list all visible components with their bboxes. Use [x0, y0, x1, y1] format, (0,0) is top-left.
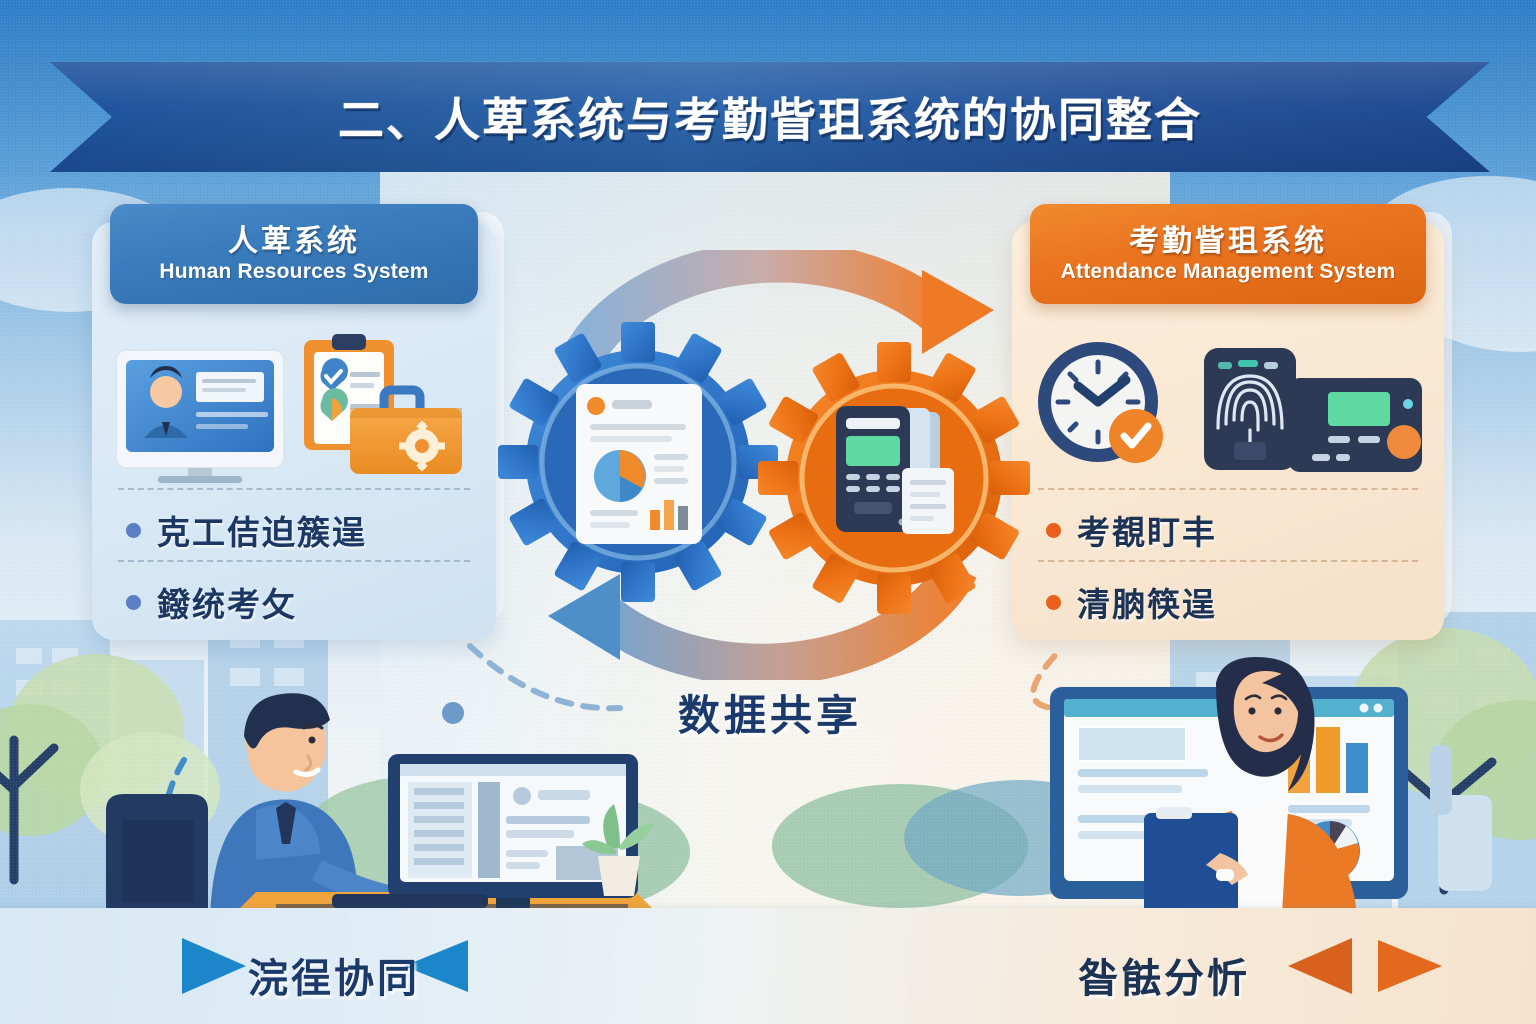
bidirectional-dashed-arrow — [0, 908, 1536, 1024]
arrow-head-right — [1378, 940, 1442, 992]
desktop-monitor-icon — [388, 754, 638, 917]
attendance-bullet-2: 清朒筷逞 — [1046, 578, 1217, 626]
arrow-head-left-outer — [182, 938, 246, 994]
bullet-dot-icon — [126, 595, 141, 610]
time-clock-terminal-icon — [836, 406, 954, 534]
attendance-system-title-cn: 考勤眥珇系统 — [1129, 225, 1327, 258]
office-chair-icon — [1430, 745, 1492, 891]
hr-system-title-cn: 人萆系统 — [228, 225, 360, 258]
hr-bullet-1-label: 克工佶迫簇逞 — [157, 506, 367, 554]
fingerprint-scanner-icon — [1204, 348, 1296, 470]
hr-system-card[interactable]: 人萆系统 Human Resources System — [92, 222, 496, 640]
monitor-employee-profile-icon — [116, 350, 284, 483]
hr-card-divider-1 — [118, 488, 470, 490]
hr-bullet-2: 鏺统考攵 — [126, 578, 297, 626]
hr-bullet-2-label: 鏺统考攵 — [157, 578, 297, 626]
gear-blue — [498, 322, 778, 602]
data-sharing-gears — [470, 250, 1070, 680]
arrow-head-right-outer — [1288, 938, 1352, 994]
attendance-card-divider-2 — [1038, 560, 1418, 562]
attendance-system-icon-row — [1012, 334, 1444, 484]
attendance-bullet-1: 考覩盯丰 — [1046, 506, 1217, 554]
hr-system-card-header: 人萆系统 Human Resources System — [110, 204, 478, 304]
page-title: 二、人萆系统与考勤眥珇系统的协同整合 — [50, 62, 1490, 172]
flow-collaboration-label: 浣徎协同 — [248, 946, 420, 1004]
hr-officer-at-desk — [60, 660, 680, 920]
hr-system-icon-row — [92, 334, 496, 484]
attendance-bullet-1-label: 考覩盯丰 — [1077, 506, 1217, 554]
attendance-terminal-icon — [1288, 378, 1422, 472]
attendance-bullet-2-label: 清朒筷逞 — [1077, 578, 1217, 626]
hr-card-divider-2 — [118, 560, 470, 562]
hr-bullet-1: 克工佶迫簇逞 — [126, 506, 367, 554]
attendance-card-divider-1 — [1038, 488, 1418, 490]
keyboard-icon — [332, 894, 488, 908]
clipboard-icon — [1144, 807, 1248, 920]
analyst-presenting-dashboard — [1020, 655, 1520, 920]
title-banner: 二、人萆系统与考勤眥珇系统的协同整合 — [50, 62, 1490, 172]
bullet-dot-icon — [126, 523, 141, 538]
attendance-system-card-header: 考勤眥珇系统 Attendance Management System — [1030, 204, 1426, 304]
hr-system-title-en: Human Resources System — [159, 260, 428, 284]
gear-orange — [758, 342, 1030, 614]
intelligent-analysis-label: 昝䏻分忻 — [1078, 946, 1250, 1004]
attendance-system-card[interactable]: 考勤眥珇系统 Attendance Management System — [1012, 222, 1444, 640]
attendance-system-title-en: Attendance Management System — [1061, 260, 1396, 284]
report-chart-document-icon — [576, 384, 702, 544]
